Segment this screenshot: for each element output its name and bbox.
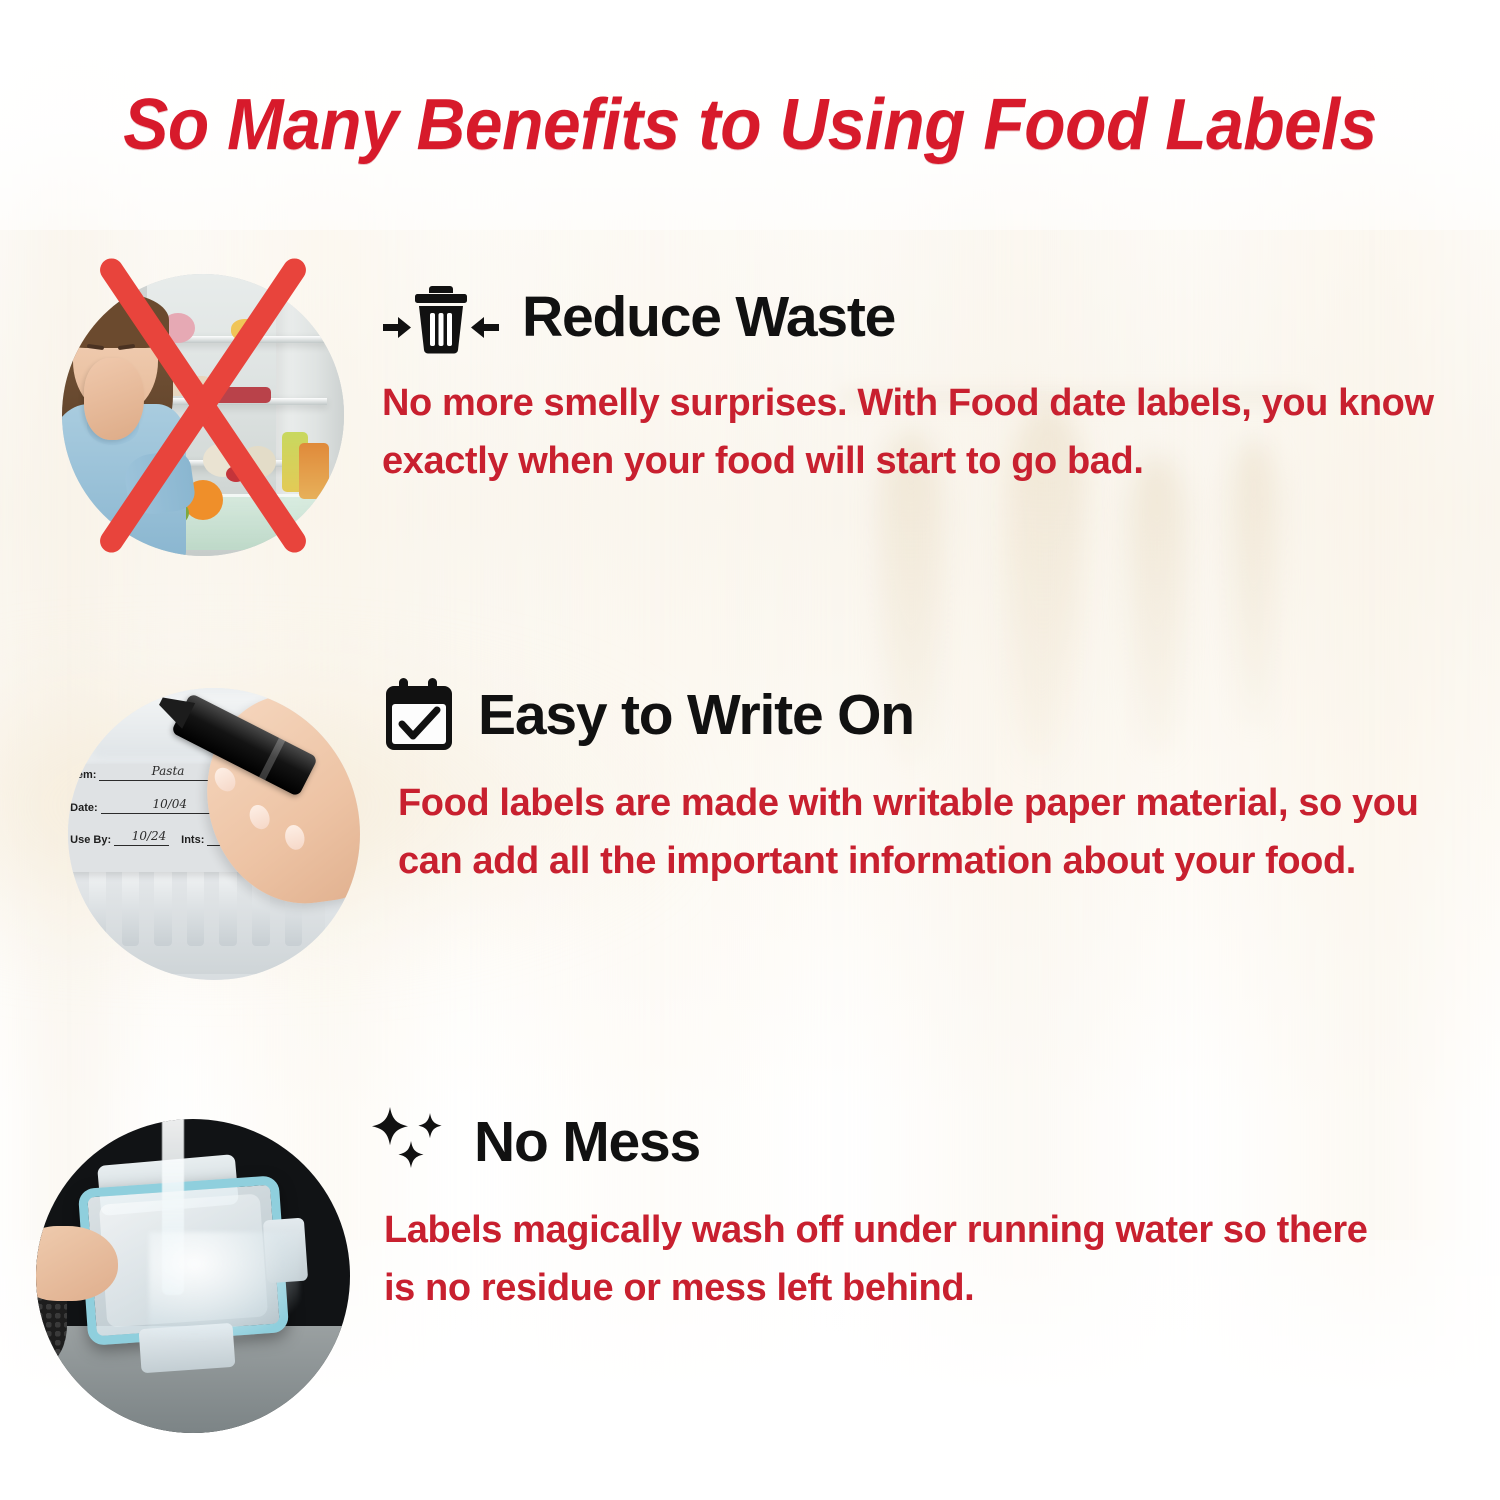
washing-scene — [36, 1119, 350, 1433]
water-splash — [149, 1232, 300, 1339]
hand-pinching-nose — [84, 358, 144, 439]
page-title: So Many Benefits to Using Food Labels — [45, 82, 1455, 168]
benefit-heading-row: Reduce Waste — [382, 280, 1497, 354]
benefit-description: Food labels are made with writable paper… — [398, 774, 1458, 890]
label-scene: Item: Pasta Date: 10/04 Use — [68, 688, 360, 980]
pepper-item — [226, 466, 246, 482]
trash-reduce-icon — [382, 280, 500, 354]
fingernail — [246, 802, 273, 832]
benefit-description: No more smelly surprises. With Food date… — [382, 374, 1472, 490]
benefit-photo-wrapper: Item: Pasta Date: 10/04 Use — [68, 660, 360, 980]
benefit-content: No Mess Labels magically wash off under … — [368, 1103, 1483, 1317]
meat-item — [209, 387, 271, 403]
hand-writing-on-food-label-photo: Item: Pasta Date: 10/04 Use — [68, 688, 360, 980]
benefit-row-easy-to-write-on: Item: Pasta Date: 10/04 Use — [0, 660, 1497, 980]
sparkle-icon — [368, 1103, 452, 1181]
label-field-value: 10/24 — [132, 829, 167, 843]
label-field-key: Item: — [70, 770, 96, 781]
benefit-title: Easy to Write On — [478, 684, 914, 746]
fingernail — [283, 823, 307, 852]
benefit-heading-row: No Mess — [368, 1103, 1483, 1181]
label-field-key: Ints: — [181, 835, 204, 846]
marker-band — [259, 738, 285, 780]
benefit-description: Labels magically wash off under running … — [384, 1201, 1404, 1317]
container-rinsed-under-running-water-photo — [36, 1119, 350, 1433]
bottle-item — [299, 443, 329, 499]
lemon-item — [231, 319, 261, 341]
infographic-page: So Many Benefits to Using Food Labels — [0, 0, 1500, 1500]
label-field-rule: 10/24 — [114, 845, 169, 846]
label-field-value: Pasta — [152, 764, 185, 778]
label-field-key: Date: — [70, 803, 98, 814]
woman-pinching-nose — [62, 285, 180, 556]
benefit-title: No Mess — [474, 1111, 700, 1173]
label-field-value: 10/04 — [152, 797, 187, 811]
benefit-photo-wrapper — [36, 1095, 350, 1433]
woman-smelling-spoiled-food-in-fridge-photo — [62, 274, 344, 556]
fringe — [62, 293, 168, 347]
benefit-content: Reduce Waste No more smelly surprises. W… — [382, 280, 1497, 490]
benefit-photo-wrapper — [62, 252, 344, 556]
benefit-row-no-mess: No Mess Labels magically wash off under … — [0, 1095, 1483, 1433]
benefit-heading-row: Easy to Write On — [382, 676, 1497, 754]
benefit-title: Reduce Waste — [522, 286, 895, 348]
benefit-content: Easy to Write On Food labels are made wi… — [382, 676, 1497, 890]
benefit-row-reduce-waste: Reduce Waste No more smelly surprises. W… — [0, 252, 1497, 556]
label-field-key: Use By: — [70, 835, 111, 846]
calendar-check-icon — [382, 676, 456, 754]
fingernail — [211, 764, 240, 795]
